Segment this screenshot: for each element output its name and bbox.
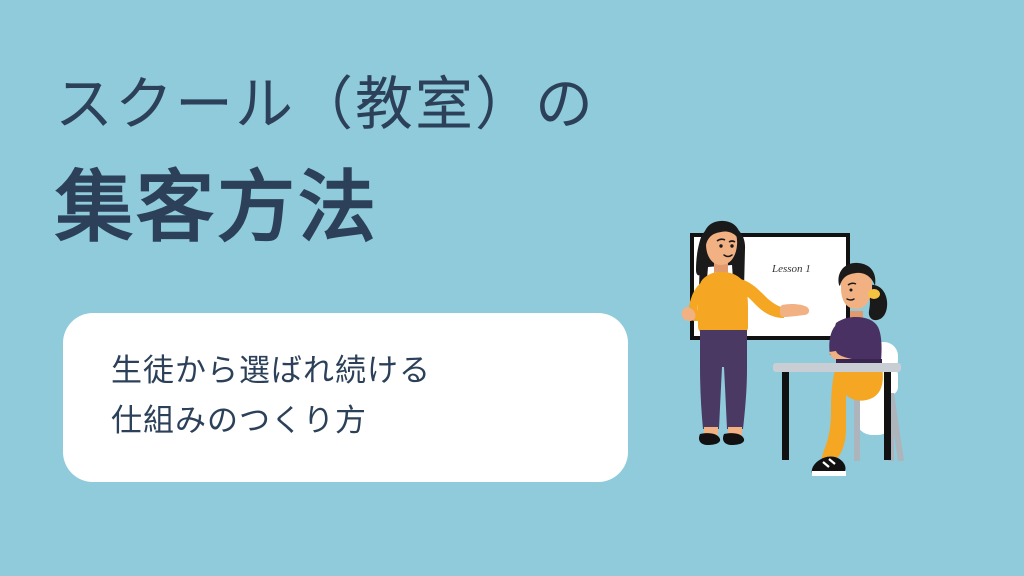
classroom-illustration: Lesson 1 (660, 215, 960, 505)
whiteboard-text: Lesson 1 (771, 263, 811, 275)
heading-line-1: スクール（教室）の (55, 76, 595, 134)
subtitle-line-2: 仕組みのつくり方 (111, 396, 431, 446)
subtitle-line-1: 生徒から選ばれ続ける (111, 346, 431, 396)
subtitle-card-text: 生徒から選ばれ続ける 仕組みのつくり方 (111, 346, 431, 446)
slide-canvas: スクール（教室）の 集客方法 生徒から選ばれ続ける 仕組みのつくり方 Lesso… (0, 0, 1024, 576)
heading-line-2: 集客方法 (55, 168, 379, 246)
subtitle-card: 生徒から選ばれ続ける 仕組みのつくり方 (63, 313, 628, 482)
